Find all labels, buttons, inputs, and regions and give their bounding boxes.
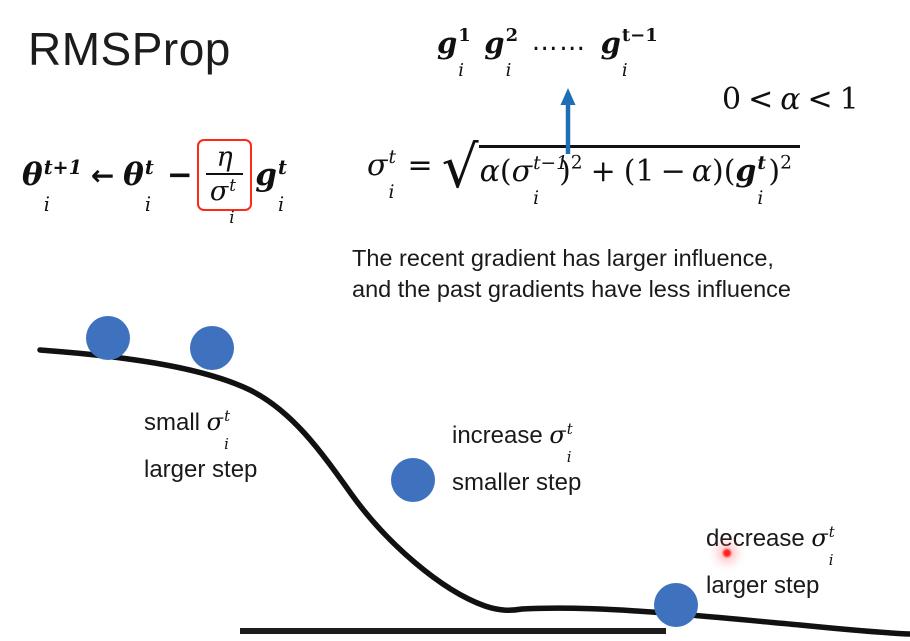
radicand: α(σt−1i)2+(1−α)(gti)2 [479,145,792,191]
square-root-expression: √ α(σt−1i)2+(1−α)(gti)2 [442,140,792,191]
label-line-1: small σti [144,405,257,441]
ball-position-4 [654,583,698,627]
sigma-symbol: σti [549,421,576,449]
bottom-rule [240,628,666,634]
eta-over-sigma-fraction: η σti [206,143,243,207]
label-line-2: smaller step [452,466,581,501]
theta-next-term: θt+1i [22,157,77,193]
label-decrease-sigma-larger-step: decrease σti larger step [706,521,839,604]
fraction-numerator: η [212,143,236,173]
page-title: RMSProp [28,22,231,76]
label-line-2: larger step [706,569,839,604]
label-increase-sigma-smaller-step: increase σti smaller step [452,418,581,501]
gradient-step-t-minus-1: gt−1i [601,26,651,60]
upward-annotation-arrow-icon [560,88,576,154]
fraction-denominator: σti [206,175,243,206]
gradient-term: gti [255,157,289,193]
label-line-2: larger step [144,453,257,488]
minus-operator: − [167,157,193,193]
assignment-arrow-icon: ← [91,159,114,192]
sigma-symbol: σti [811,524,838,552]
equals-operator: = [407,148,432,183]
learning-rate-highlight-box: η σti [197,139,252,212]
slide-canvas: RMSProp θt+1i ← θti − η σti gti g1i [0,0,910,641]
sigma-recursion-equation: σti = √ α(σt−1i)2+(1−α)(gti)2 [367,140,792,191]
radical-overbar [479,145,800,148]
radical-sign-icon: √ [442,147,479,189]
theta-update-equation: θt+1i ← θti − η σti gti [22,135,292,215]
sigma-symbol: σti [207,408,234,436]
laser-pointer-dot [721,547,733,559]
label-small-sigma-larger-step: small σti larger step [144,405,257,488]
gradient-history-sequence: g1i g2i …… gt−1i [437,26,668,60]
ball-position-3 [391,458,435,502]
gradient-step-2: g2i [484,26,514,60]
ball-position-1 [86,316,130,360]
gradient-step-1: g1i [437,26,467,60]
sigma-current-term: σti [367,148,400,183]
label-line-1: increase σti [452,418,581,454]
theta-current-term: θti [123,157,158,193]
ellipsis: …… [532,27,587,57]
alpha-range-constraint: 0<α<1 [722,82,859,117]
ball-position-2 [190,326,234,370]
explanation-line-1: The recent gradient has larger influence… [352,243,791,274]
